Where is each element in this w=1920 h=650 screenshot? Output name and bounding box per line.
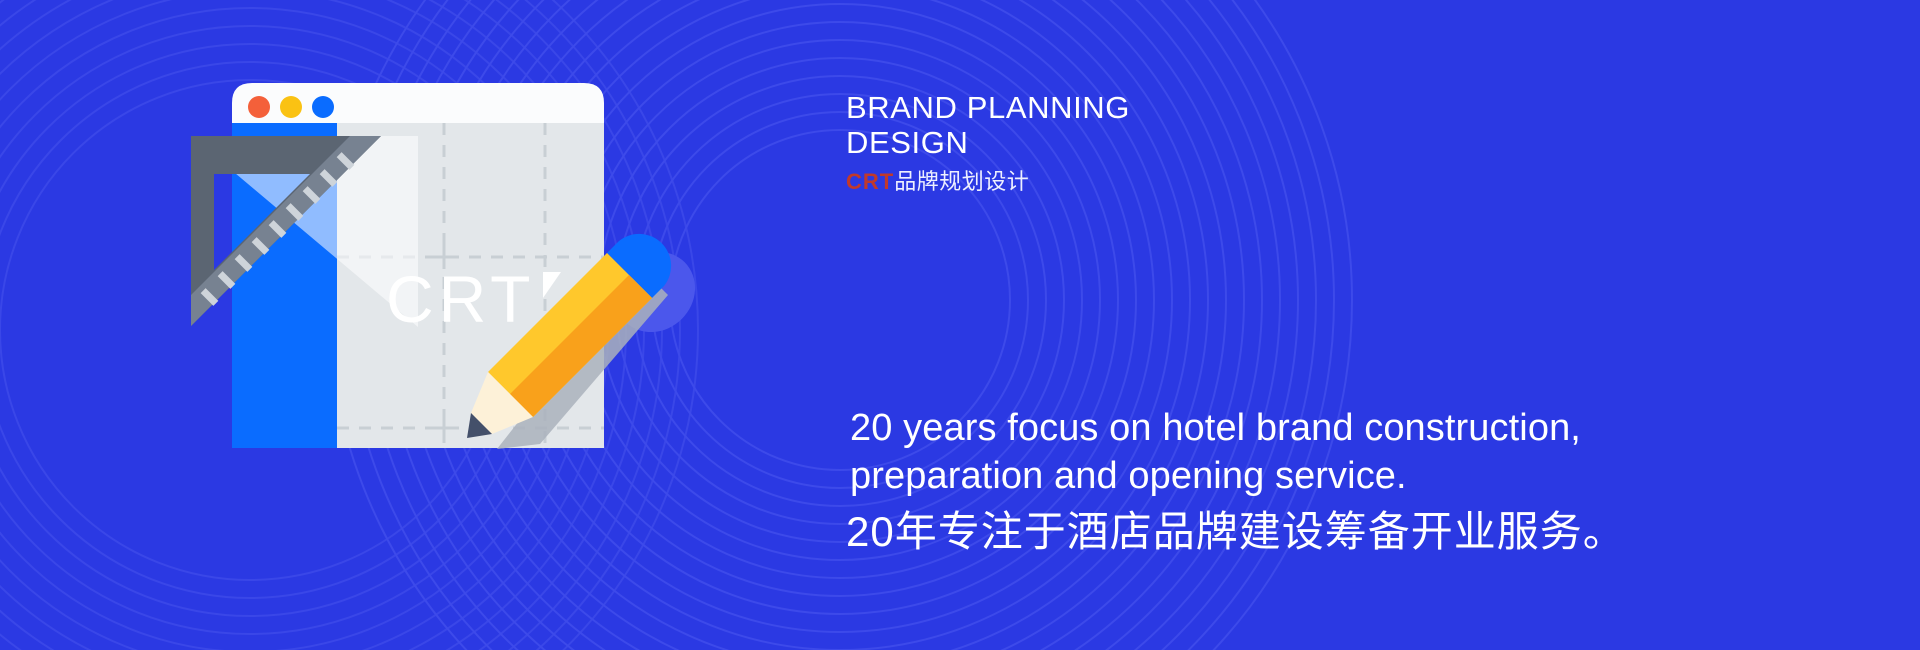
dot-blue-icon (312, 96, 334, 118)
dot-red-icon (248, 96, 270, 118)
dot-yellow-icon (280, 96, 302, 118)
sub-heading-brand: CRT (846, 169, 894, 194)
sub-heading: CRT品牌规划设计 (846, 168, 1029, 196)
tagline-chinese: 20年专注于酒店品牌建设筹备开业服务。 (846, 505, 1846, 559)
tagline-english: 20 years focus on hotel brand constructi… (850, 404, 1850, 500)
promo-banner: CRT (0, 0, 1920, 650)
sub-heading-cn: 品牌规划设计 (894, 169, 1029, 194)
eyebrow-heading: BRAND PLANNING DESIGN (846, 90, 1266, 160)
brand-illustration: CRT (0, 0, 900, 650)
copy-column: BRAND PLANNING DESIGN CRT品牌规划设计 20 years… (846, 0, 1886, 650)
